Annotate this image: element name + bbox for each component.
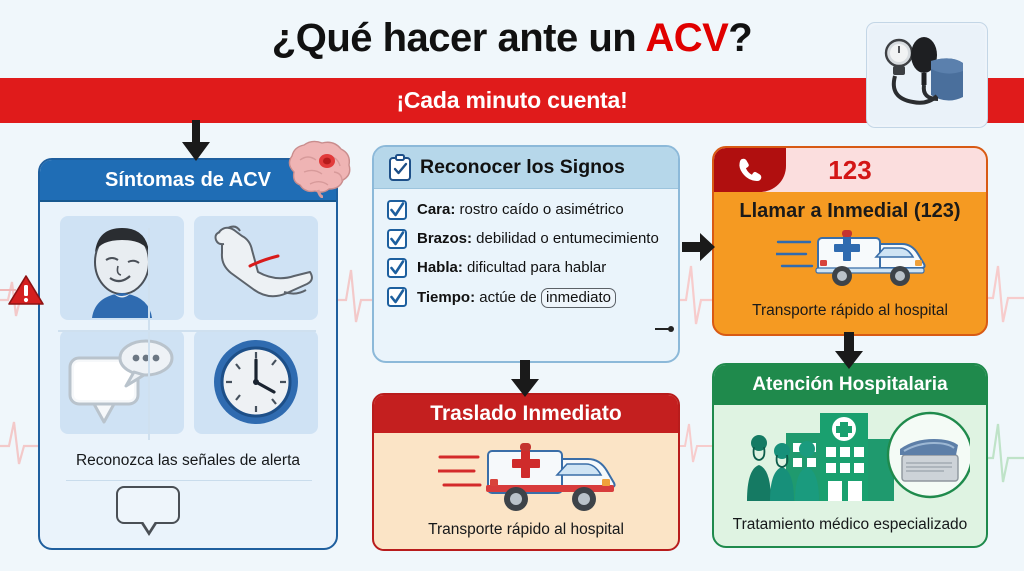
panel-sintomas-divider <box>66 480 312 481</box>
brain-stroke-icon <box>284 140 356 198</box>
checkbox-checked-icon <box>386 228 408 250</box>
panel-llamar-heading: Llamar a Inmedial (123) <box>714 200 986 223</box>
ecg-waveform-icon <box>984 250 1024 334</box>
panel-reconocer-signos: Reconocer los Signos Cara: rostro caído … <box>372 145 680 363</box>
panel-signos-heading: Reconocer los Signos <box>374 147 678 189</box>
sign-desc-cara: rostro caído o asimétrico <box>455 201 623 218</box>
symptom-grid-divider-horizontal <box>58 330 316 332</box>
sign-desc-brazos: debilidad o entumecimiento <box>472 230 659 247</box>
checkbox-checked-icon <box>386 199 408 221</box>
symptom-cell-clock[interactable] <box>194 330 318 434</box>
clipboard-check-icon <box>388 154 412 182</box>
emergency-number: 123 <box>828 155 871 186</box>
chip-connector-line <box>655 328 669 330</box>
sign-item-habla[interactable]: Habla: dificultad para hablar <box>386 257 668 279</box>
weak-arm-icon <box>198 222 314 314</box>
panel-traslado-caption: Transporte rápido al hospital <box>374 521 678 539</box>
blood-pressure-monitor-icon <box>867 23 987 127</box>
symptom-grid <box>60 216 318 434</box>
arrow-header-to-sintomas <box>178 120 214 162</box>
ambulance-blue-icon <box>776 228 934 290</box>
symptom-cell-arm[interactable] <box>194 216 318 320</box>
ecg-waveform-icon <box>984 408 1024 494</box>
checkbox-checked-icon <box>386 257 408 279</box>
drooping-face-icon <box>66 218 178 318</box>
phone-icon <box>737 157 763 183</box>
sign-term-brazos: Brazos: <box>417 230 472 247</box>
sign-item-habla-text: Habla: dificultad para hablar <box>417 257 606 277</box>
title-prefix: ¿Qué hacer ante un <box>272 16 646 60</box>
warning-triangle-icon <box>8 274 44 306</box>
hospital-staff-icon <box>734 407 970 501</box>
panel-hospital-heading: Atención Hospitalaria <box>714 365 986 405</box>
arrow-llamar-to-hospital <box>832 332 866 370</box>
symptom-grid-divider-vertical <box>148 228 150 440</box>
symptom-cell-speech[interactable] <box>60 330 184 434</box>
sign-term-cara: Cara: <box>417 201 455 218</box>
panel-hospital-heading-text: Atención Hospitalaria <box>752 374 947 396</box>
title-suffix: ? <box>728 16 752 60</box>
speech-bubble-icon <box>64 336 180 428</box>
panel-hospital-caption: Tratamiento médico especializado <box>714 516 986 534</box>
chip-connector-dot <box>668 326 674 332</box>
sign-term-habla: Habla: <box>417 259 463 276</box>
blood-pressure-monitor-card <box>866 22 988 128</box>
arrow-signos-to-traslado <box>508 360 542 398</box>
panel-sintomas: Síntomas de ACV <box>38 158 338 550</box>
sign-item-brazos[interactable]: Brazos: debilidad o entumecimiento <box>386 228 668 250</box>
panel-signos-heading-text: Reconocer los Signos <box>420 156 625 179</box>
sign-item-tiempo-text: Tiempo: actúe de inmediato <box>417 286 616 308</box>
checkbox-checked-icon <box>386 286 408 308</box>
placeholder-speech-bubble <box>116 486 180 524</box>
sign-desc-tiempo: actúe de <box>475 289 541 306</box>
sign-item-cara[interactable]: Cara: rostro caído o asimétrico <box>386 199 668 221</box>
panel-traslado-heading-text: Traslado Inmediato <box>430 402 621 426</box>
panel-traslado-heading: Traslado Inmediato <box>374 395 678 433</box>
infographic-root: ¿Qué hacer ante un ACV? ¡Cada minuto cue… <box>0 0 1024 571</box>
panel-atencion-hospitalaria: Atención Hospitalaria <box>712 363 988 548</box>
sign-desc-habla: dificultad para hablar <box>463 259 606 276</box>
sign-item-cara-text: Cara: rostro caído o asimétrico <box>417 199 624 219</box>
clock-icon <box>208 334 304 430</box>
sign-item-tiempo[interactable]: Tiempo: actúe de inmediato <box>386 286 668 308</box>
panel-llamar-caption: Transporte rápido al hospital <box>714 302 986 320</box>
ambulance-red-cross-icon <box>438 441 624 517</box>
panel-sintomas-heading-text: Síntomas de ACV <box>105 169 271 192</box>
signs-list: Cara: rostro caído o asimétrico Brazos: … <box>374 189 678 308</box>
symptom-cell-face[interactable] <box>60 216 184 320</box>
panel-traslado-inmediato: Traslado Inmediato Transporte rápido al … <box>372 393 680 551</box>
phone-badge[interactable] <box>714 148 786 192</box>
title-accent: ACV <box>645 16 728 60</box>
ct-scanner-icon <box>900 439 958 481</box>
panel-sintomas-caption: Reconozca las señales de alerta <box>40 452 336 470</box>
panel-llamar-inmedial: 123 Llamar a Inmedial (123) <box>712 146 988 336</box>
arrow-signos-to-llamar <box>682 232 716 262</box>
ecg-waveform-icon <box>676 400 716 480</box>
sign-term-tiempo: Tiempo: <box>417 289 475 306</box>
sign-chip-inmediato[interactable]: inmediato <box>541 288 616 308</box>
urgency-banner-text: ¡Cada minuto cuenta! <box>396 87 627 114</box>
sign-item-brazos-text: Brazos: debilidad o entumecimiento <box>417 228 659 248</box>
